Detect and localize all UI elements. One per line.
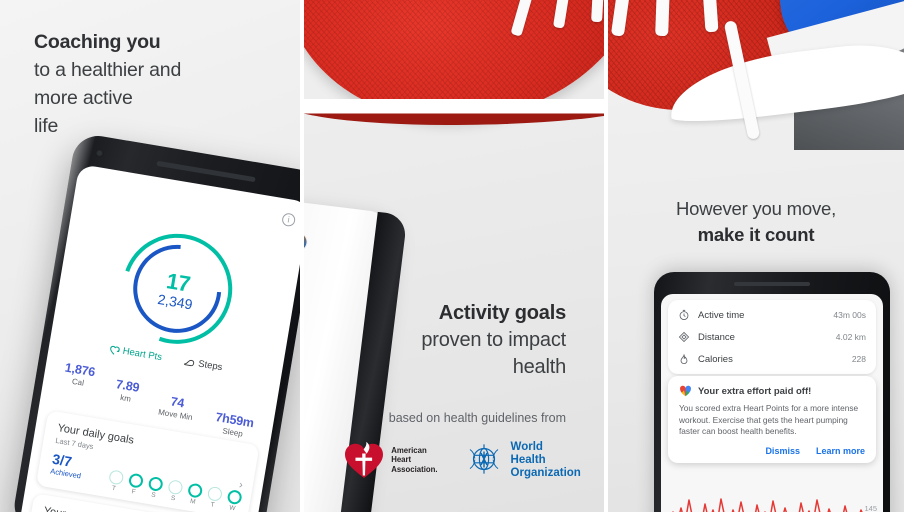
heart-rate-chart: 145 — [668, 490, 883, 512]
legend-steps: Steps — [183, 356, 224, 373]
notification-title-row: Your extra effort paid off! — [679, 385, 865, 397]
who-line2: Organization — [511, 467, 581, 480]
world-health-organization-logo: World Health Organization — [464, 440, 581, 480]
american-heart-association-logo: American Heart Association. — [343, 440, 437, 480]
headline-line1: However you move, — [608, 196, 904, 222]
panel-activity-goals: 17 Heart Pts 2,349 — [304, 0, 604, 512]
stat-distance: 7.89 km — [113, 377, 140, 405]
headline-line2: proven to impact — [336, 327, 566, 354]
stat-calories: 1,876 Cal — [62, 361, 96, 390]
panel3-headline: However you move, make it count — [608, 196, 904, 248]
chevron-right-icon[interactable]: › — [238, 479, 244, 491]
info-icon[interactable]: i — [281, 212, 296, 227]
day-ring: S — [144, 476, 164, 501]
dismiss-button[interactable]: Dismiss — [765, 446, 800, 456]
extra-effort-notification-card: Your extra effort paid off! You scored e… — [668, 376, 876, 463]
shoe-lace — [591, 0, 604, 22]
phone-screen-3: Active time 43m 00s Distance 4.02 km — [661, 294, 883, 512]
avatar[interactable] — [304, 232, 307, 251]
distance-icon — [678, 331, 693, 343]
based-on-text: based on health guidelines from — [306, 411, 566, 425]
row-value: 43m 00s — [833, 310, 866, 320]
day-ring-dot — [206, 486, 222, 502]
headline-line3: more active — [34, 84, 274, 112]
row-label: Calories — [698, 354, 852, 365]
aha-line2: Heart — [391, 455, 437, 464]
aha-line3: Association. — [391, 465, 437, 474]
who-logo-text: World Health Organization — [511, 441, 581, 480]
legend-heart-points-label: Heart Pts — [122, 346, 163, 363]
day-ring: M — [184, 482, 204, 507]
stat-sleep: 7h59m Sleep — [213, 410, 255, 440]
panel2-headline: Activity goals proven to impact health — [336, 300, 566, 381]
partner-logos: American Heart Association. — [348, 434, 576, 486]
day-label: S — [164, 494, 182, 504]
row-value: 228 — [852, 354, 866, 364]
screenshot-stage: Coaching you to a healthier and more act… — [0, 0, 904, 512]
day-label: W — [223, 504, 241, 512]
day-ring-dot — [147, 476, 163, 492]
legend-steps-label: Steps — [197, 358, 223, 373]
earpiece-speaker — [734, 282, 810, 286]
heart-icon — [108, 344, 120, 356]
workout-summary-list: Active time 43m 00s Distance 4.02 km — [668, 300, 876, 374]
who-emblem-icon — [464, 440, 504, 480]
phone-mockup-3: Active time 43m 00s Distance 4.02 km — [654, 272, 890, 512]
headline-line3: health — [336, 354, 566, 381]
headline-line2: to a healthier and — [34, 56, 274, 84]
learn-more-button[interactable]: Learn more — [816, 446, 865, 456]
headline-bold: make it count — [608, 222, 904, 248]
day-ring-dot — [108, 469, 124, 485]
heart-rate-value: 145 — [864, 504, 877, 512]
day-ring-dot — [187, 482, 203, 498]
flame-icon — [678, 353, 693, 365]
shoe-sole — [304, 99, 604, 125]
day-ring: T — [204, 485, 224, 510]
row-calories[interactable]: Calories 228 — [668, 348, 876, 370]
day-ring: W — [223, 489, 243, 512]
day-ring-dot — [167, 479, 183, 495]
legend-heart-points: Heart Pts — [108, 343, 163, 363]
shoe-lace — [655, 0, 670, 36]
stat-move-min: 74 Move Min — [158, 393, 196, 422]
row-active-time[interactable]: Active time 43m 00s — [668, 304, 876, 326]
panel1-headline: Coaching you to a healthier and more act… — [34, 28, 274, 140]
multicolor-heart-icon — [679, 385, 692, 397]
day-ring: F — [125, 472, 145, 497]
who-line1: World Health — [511, 441, 581, 467]
day-label: F — [125, 487, 143, 497]
day-ring-dot — [127, 473, 143, 489]
panel-coaching: Coaching you to a healthier and more act… — [0, 0, 300, 512]
notification-body: You scored extra Heart Points for a more… — [679, 403, 865, 438]
day-ring-dot — [226, 489, 242, 505]
panel-make-it-count: However you move, make it count Active t… — [608, 0, 904, 512]
headline-line4: life — [34, 112, 274, 140]
shoe-lace — [702, 0, 718, 32]
notification-title: Your extra effort paid off! — [698, 386, 811, 397]
day-label: S — [144, 490, 162, 500]
day-label: T — [204, 500, 222, 510]
stopwatch-icon — [678, 309, 693, 321]
notification-actions: Dismiss Learn more — [679, 446, 865, 456]
aha-heart-torch-icon — [343, 440, 385, 480]
aha-line1: American — [391, 446, 437, 455]
aha-logo-text: American Heart Association. — [391, 446, 437, 474]
activity-rings: 17 2,349 — [114, 226, 241, 353]
row-label: Distance — [698, 332, 836, 343]
row-value: 4.02 km — [836, 332, 866, 342]
phone-mockup-1: i 17 2,349 Heart — [11, 132, 300, 512]
day-ring: S — [164, 479, 184, 504]
row-distance[interactable]: Distance 4.02 km — [668, 326, 876, 348]
day-label: T — [105, 484, 123, 494]
day-label: M — [184, 497, 202, 507]
day-ring: T — [105, 469, 125, 494]
shoe-icon — [183, 356, 196, 368]
headline-bold: Coaching you — [34, 28, 274, 56]
headline-bold: Activity goals — [336, 300, 566, 327]
row-label: Active time — [698, 310, 833, 321]
